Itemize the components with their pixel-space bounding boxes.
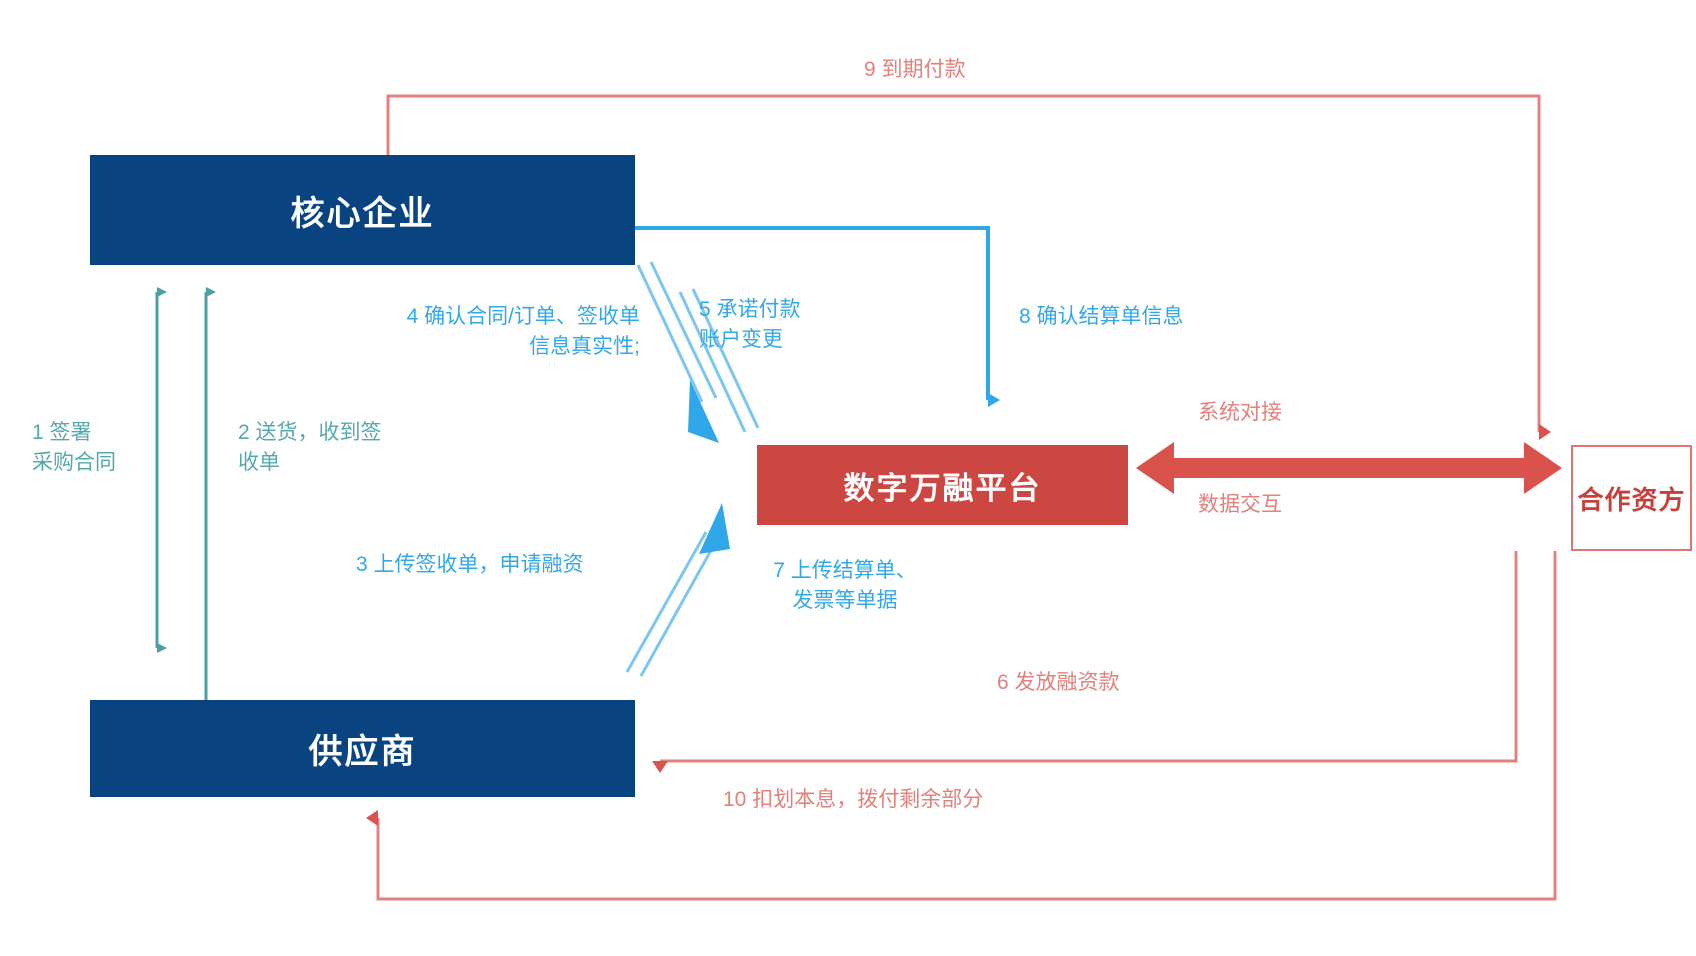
flow-label-10: 10 扣划本息，拨付剩余部分 [723, 785, 1063, 815]
node-core-enterprise-label: 核心企业 [291, 186, 435, 235]
annotation-system-docking: 系统对接 [1160, 398, 1320, 428]
flow-label-9: 9 到期付款 [864, 55, 1064, 85]
flow-label-3: 3 上传签收单，申请融资 [356, 550, 646, 580]
flow-label-6: 6 发放融资款 [997, 668, 1197, 698]
flow-label-8: 8 确认结算单信息 [1019, 302, 1259, 332]
connector-platform-funder-bidirectional [1136, 442, 1562, 494]
annotation-data-exchange: 数据交互 [1160, 490, 1320, 520]
node-platform[interactable]: 数字万融平台 [757, 445, 1128, 525]
node-platform-label: 数字万融平台 [844, 463, 1042, 508]
flow-label-7: 7 上传结算单、 发票等单据 [740, 556, 950, 617]
node-funder[interactable]: 合作资方 [1571, 445, 1692, 551]
flow-label-5: 5 承诺付款 账户变更 [699, 295, 869, 356]
connector-flow-3 [627, 503, 730, 676]
flow-label-1: 1 签署 采购合同 [32, 418, 162, 479]
flow-label-4: 4 确认合同/订单、签收单 信息真实性; [300, 302, 640, 363]
flow-label-2: 2 送货，收到签 收单 [238, 418, 448, 479]
node-supplier[interactable]: 供应商 [90, 700, 635, 797]
node-supplier-label: 供应商 [309, 724, 417, 773]
node-core-enterprise[interactable]: 核心企业 [90, 155, 635, 265]
node-funder-label: 合作资方 [1577, 480, 1685, 517]
flow-diagram-canvas: 核心企业 供应商 数字万融平台 合作资方 1 签署 采购合同 2 送货，收到签 … [0, 0, 1696, 956]
